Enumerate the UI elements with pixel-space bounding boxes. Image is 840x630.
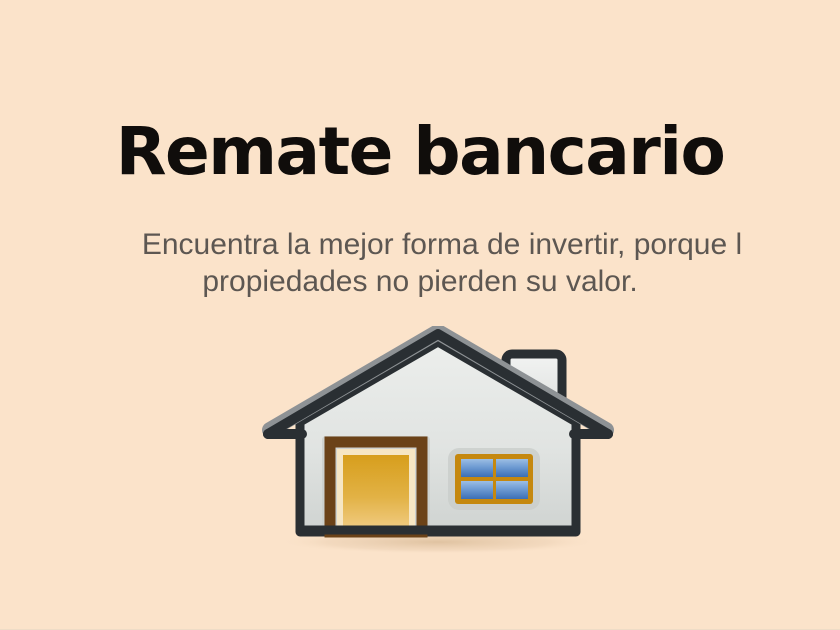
page-subtitle-line-1: Encuentra la mejor forma de invertir, po… bbox=[22, 226, 840, 263]
window-pane-top-left bbox=[461, 459, 493, 477]
page-subtitle-line-2: propiedades no pierden su valor. bbox=[0, 263, 840, 300]
window-pane-bottom-left bbox=[461, 481, 493, 499]
door-panel bbox=[343, 455, 409, 532]
window-pane-bottom-right bbox=[496, 481, 528, 499]
promo-card: Remate bancario Encuentra la mejor forma… bbox=[0, 0, 840, 630]
window-icon bbox=[448, 448, 540, 510]
house-icon bbox=[262, 326, 614, 558]
page-subtitle: Encuentra la mejor forma de invertir, po… bbox=[0, 226, 840, 300]
window-pane-top-right bbox=[496, 459, 528, 477]
page-title: Remate bancario bbox=[0, 116, 840, 188]
house-icon-graphic bbox=[262, 326, 614, 558]
